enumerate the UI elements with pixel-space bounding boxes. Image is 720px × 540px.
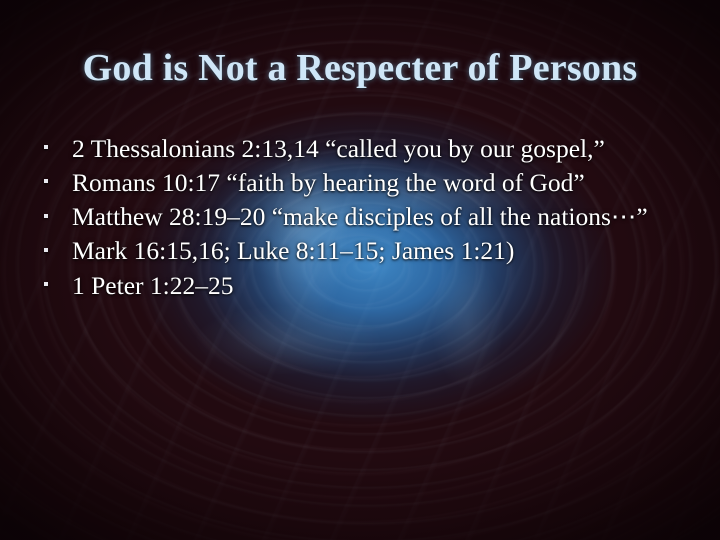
list-item: 1 Peter 1:22–25 [40,269,690,302]
bullet-dot-icon [44,179,48,183]
presentation-slide: God is Not a Respecter of Persons 2 Thes… [0,0,720,540]
list-item: Matthew 28:19–20 “make disciples of all … [40,200,690,233]
list-item: Mark 16:15,16; Luke 8:11–15; James 1:21) [40,234,690,267]
list-item: 2 Thessalonians 2:13,14 “called you by o… [40,132,690,165]
list-item-text: Romans 10:17 “faith by hearing the word … [72,166,690,199]
list-item-text: Mark 16:15,16; Luke 8:11–15; James 1:21) [72,234,690,267]
list-item-text: 2 Thessalonians 2:13,14 “called you by o… [72,132,690,165]
bullet-dot-icon [44,145,48,149]
scripture-reference-list: 2 Thessalonians 2:13,14 “called you by o… [40,132,690,303]
bullet-dot-icon [44,248,48,252]
list-item-text: Matthew 28:19–20 “make disciples of all … [72,200,690,233]
bullet-dot-icon [44,282,48,286]
list-item: Romans 10:17 “faith by hearing the word … [40,166,690,199]
list-item-text: 1 Peter 1:22–25 [72,269,690,302]
slide-title: God is Not a Respecter of Persons [0,49,720,89]
slide-content: God is Not a Respecter of Persons 2 Thes… [0,0,720,540]
bullet-dot-icon [44,214,48,218]
